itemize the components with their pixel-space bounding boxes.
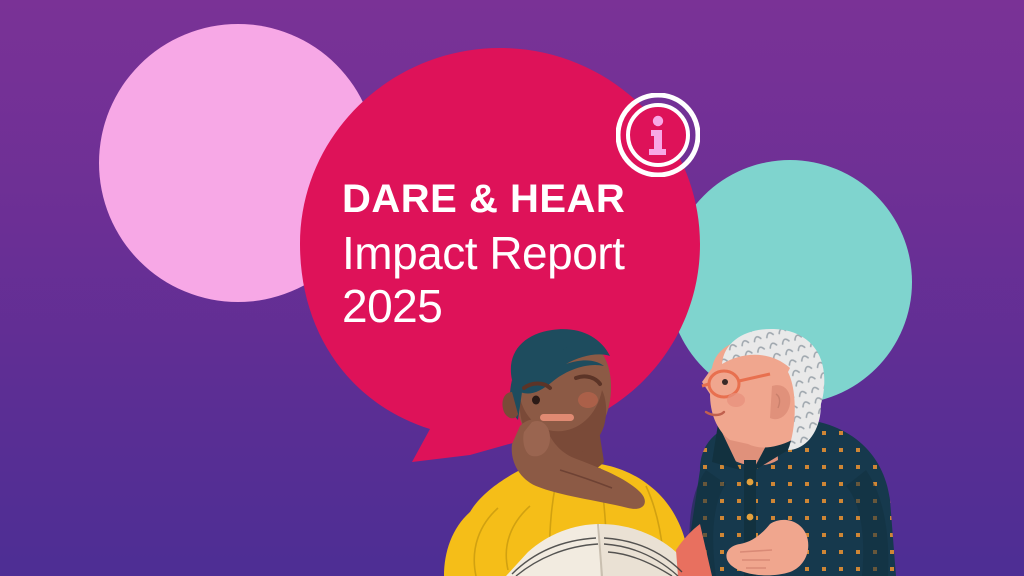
elder-button-2	[747, 514, 754, 521]
listening-elder	[684, 329, 896, 576]
elder-cheek	[727, 393, 745, 407]
logo-letter-dot	[653, 116, 663, 126]
report-eyebrow: DARE & HEAR	[342, 178, 712, 221]
report-cover: DARE & HEAR Impact Report 2025	[0, 0, 1024, 576]
man-eye	[532, 396, 540, 405]
man-mouth	[540, 414, 574, 421]
report-year: 2025	[342, 280, 712, 332]
elder-eye	[722, 379, 728, 385]
elder-button-1	[747, 479, 754, 486]
man-cheek	[578, 392, 598, 408]
report-title: Impact Report	[342, 227, 712, 279]
info-circle-icon[interactable]	[616, 93, 700, 177]
title-block: DARE & HEAR Impact Report 2025	[342, 178, 712, 332]
